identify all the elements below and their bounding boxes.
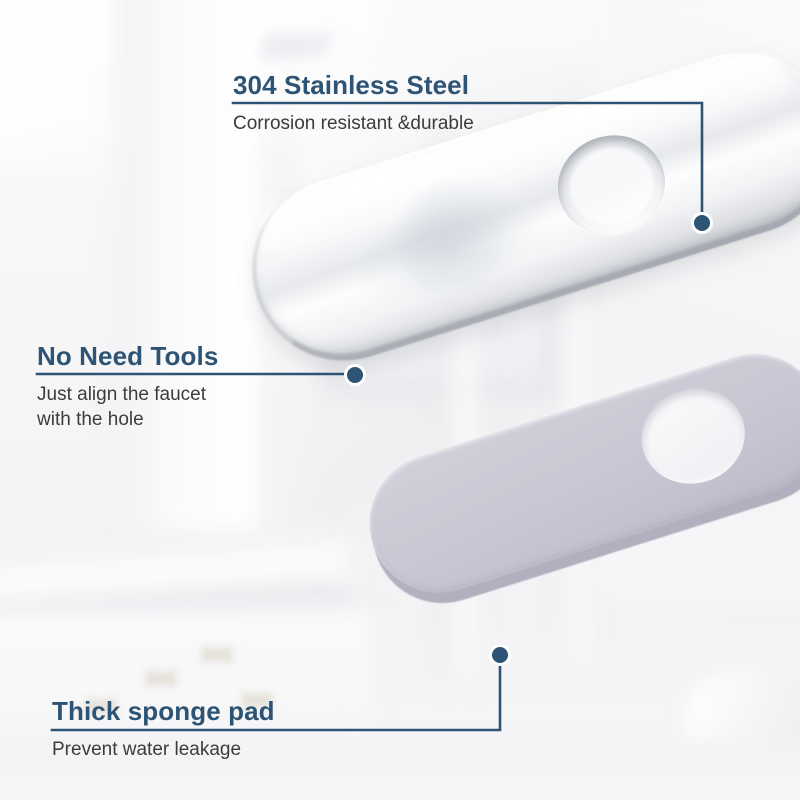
infographic-canvas: 304 Stainless Steel Corrosion resistant …: [0, 0, 800, 800]
callout-stainless-steel: 304 Stainless Steel Corrosion resistant …: [233, 72, 474, 137]
callout-subtitle: Prevent water leakage: [52, 738, 275, 762]
callout-no-need-tools: No Need Tools Just align the faucet with…: [37, 343, 218, 432]
callout-title: 304 Stainless Steel: [233, 72, 474, 99]
callout-subtitle: Corrosion resistant &durable: [233, 112, 474, 136]
sponge-pad-faucet-hole: [630, 376, 757, 497]
drawer-seam: [0, 658, 370, 661]
callout-title: Thick sponge pad: [52, 698, 275, 725]
cabinet-knob: [204, 648, 230, 661]
ceiling-vent: [253, 34, 332, 60]
callout-thick-sponge-pad: Thick sponge pad Prevent water leakage: [52, 698, 275, 763]
callout-title: No Need Tools: [37, 343, 218, 370]
cabinet-knob: [148, 672, 174, 685]
callout-subtitle: Just align the faucet with the hole: [37, 383, 218, 432]
